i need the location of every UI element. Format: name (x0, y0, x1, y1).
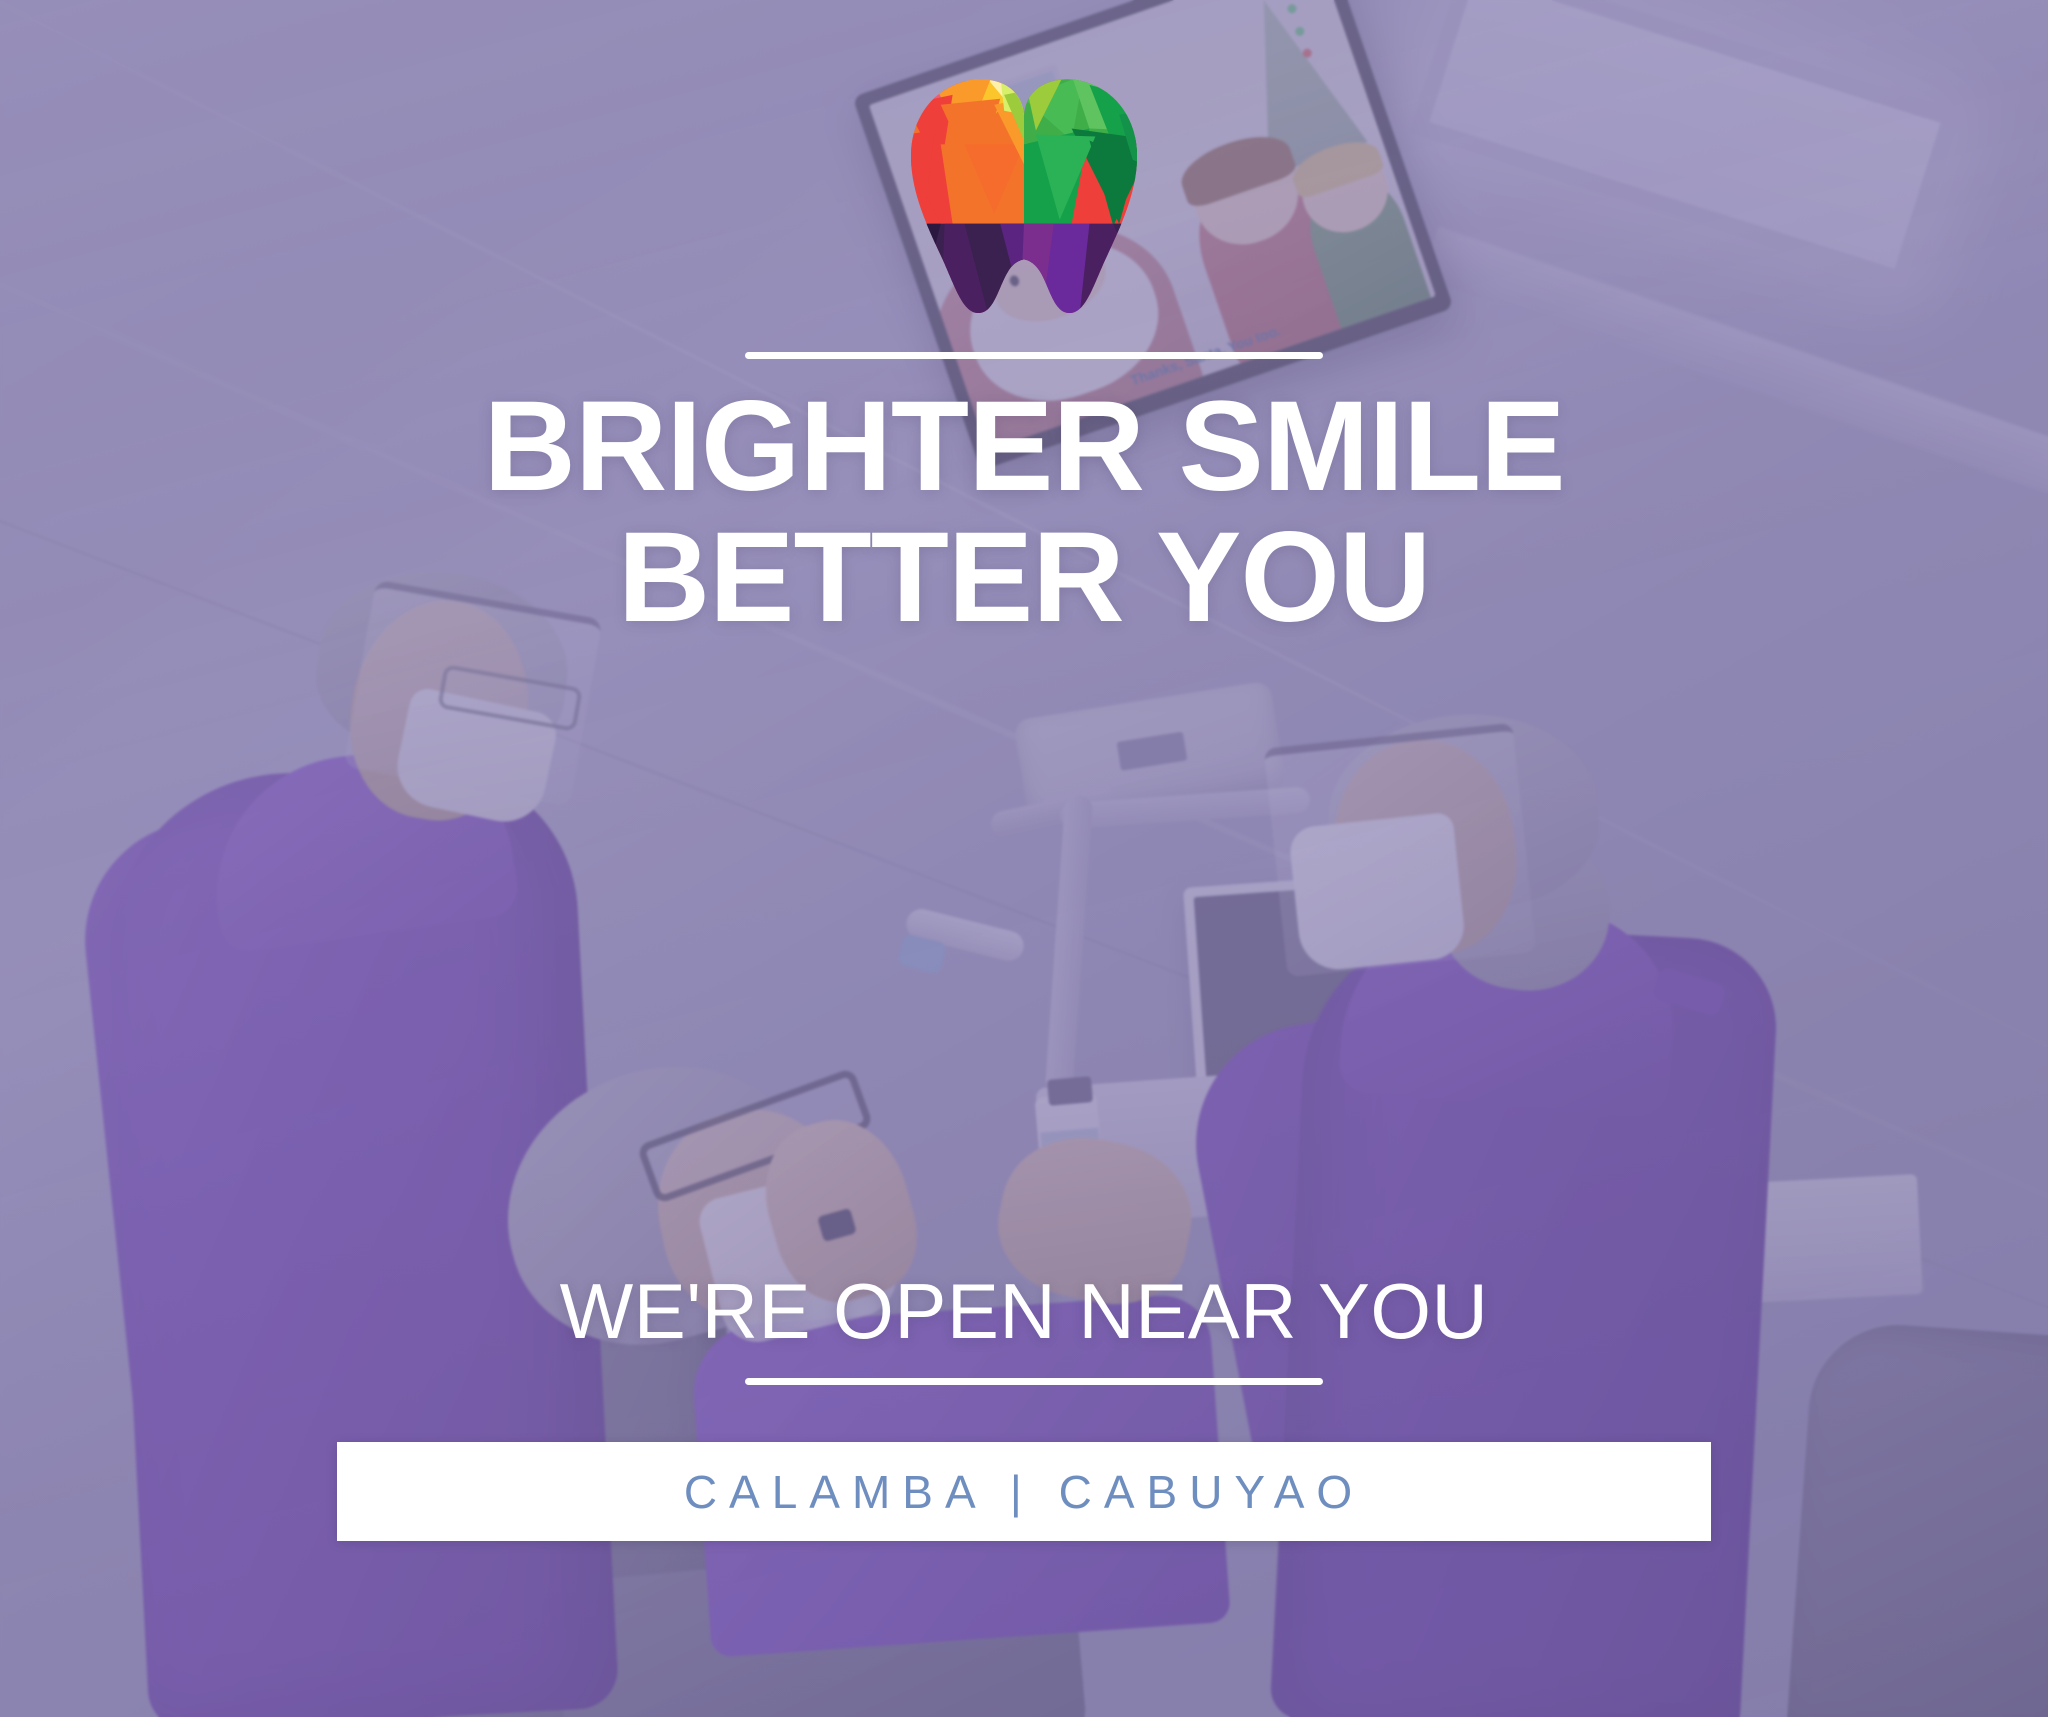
divider-line-bottom (745, 1378, 1323, 1385)
divider-line-top (745, 352, 1323, 359)
dental-clinic-poster: Thanks, Santa. You too. (0, 0, 2048, 1717)
page-title: BRIGHTER SMILE BETTER YOU (0, 382, 2048, 643)
poster-content: BRIGHTER SMILE BETTER YOU WE'RE OPEN NEA… (0, 0, 2048, 1717)
locations-footer-bar: CALAMBA | CABUYAO (337, 1442, 1711, 1541)
locations-text: CALAMBA | CABUYAO (684, 1465, 1364, 1519)
subheadline: WE'RE OPEN NEAR YOU (0, 1266, 2048, 1357)
headline-line-2: BETTER YOU (0, 513, 2048, 644)
headline-line-1: BRIGHTER SMILE (483, 375, 1564, 518)
